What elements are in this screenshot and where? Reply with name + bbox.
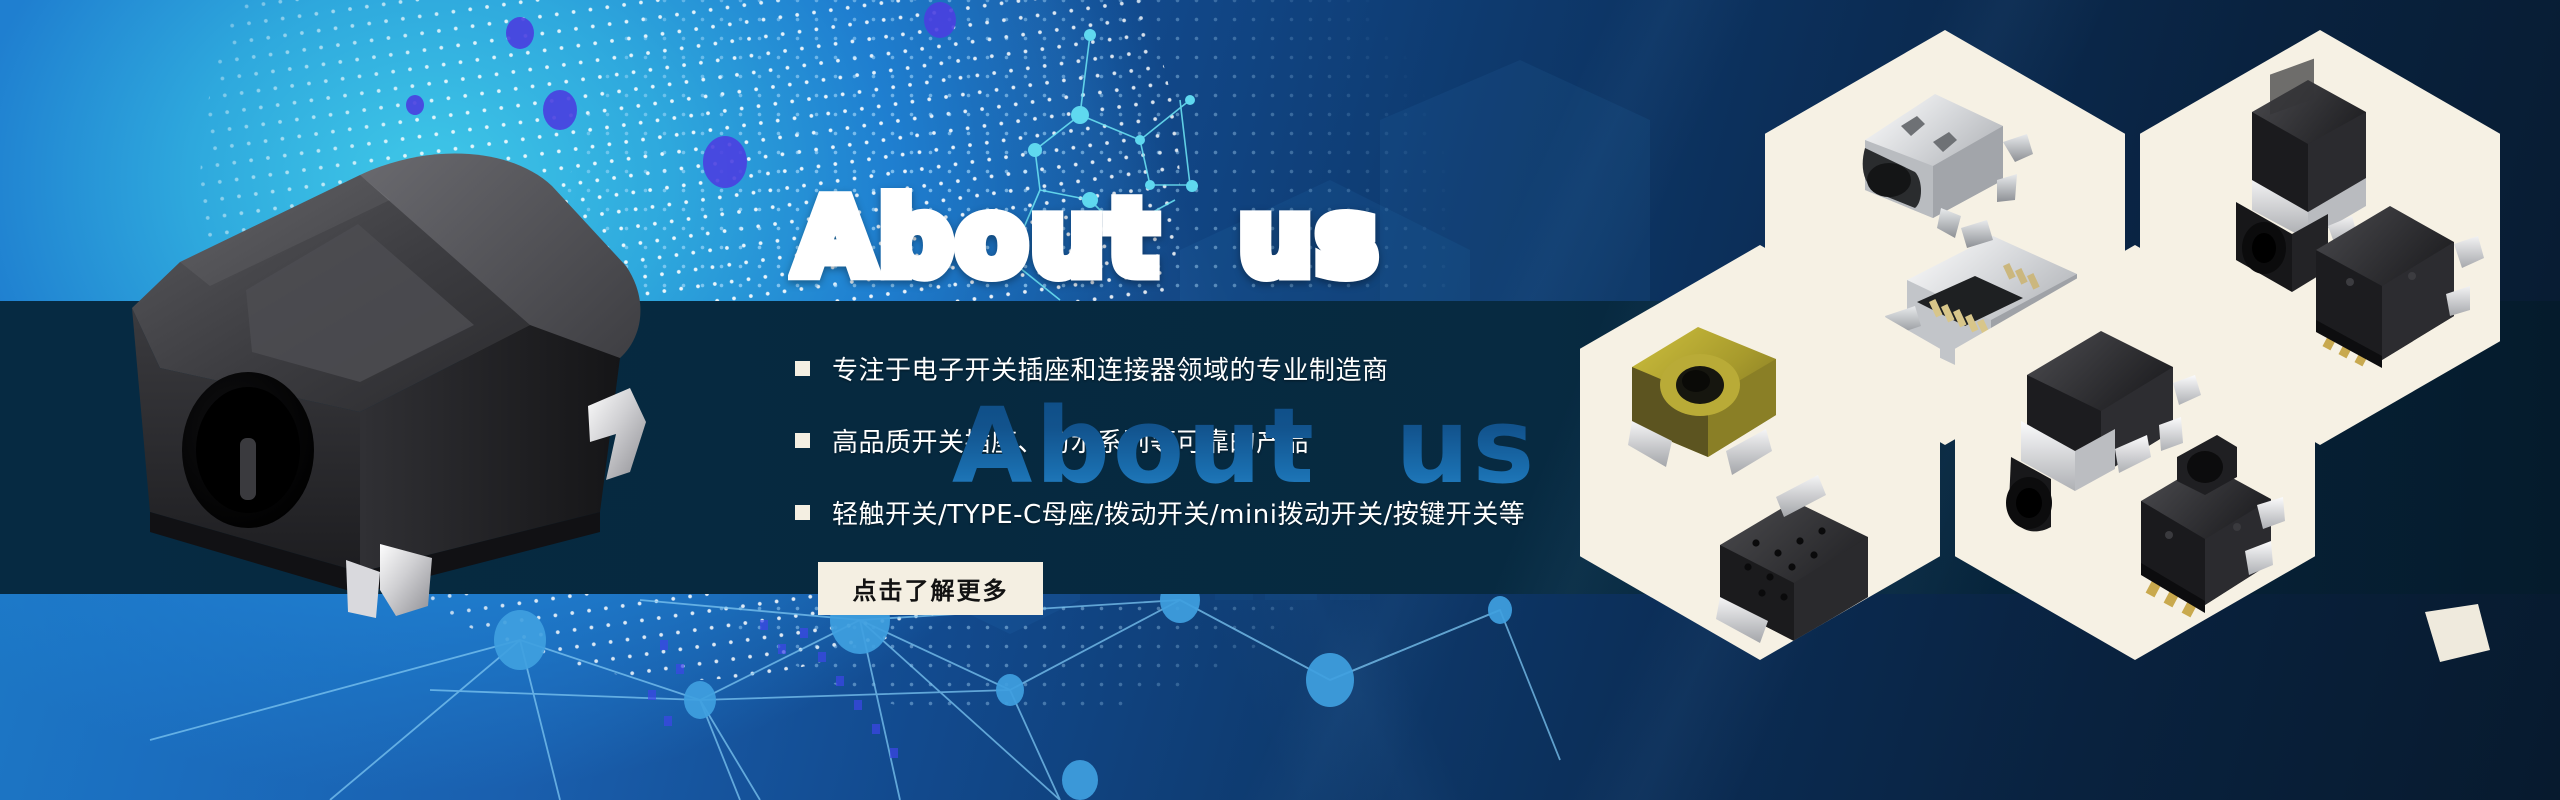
square-bullet-icon [795, 505, 810, 520]
page-title-fill: About us [952, 385, 1538, 507]
learn-more-button[interactable]: 点击了解更多 [818, 562, 1043, 615]
hero-product-image [60, 120, 680, 640]
product-gallery [1540, 0, 2560, 800]
about-us-banner: About us About us 专注于电子开关插座和连接器领域的专业制造商 … [0, 0, 2560, 800]
list-item-label: 专注于电子开关插座和连接器领域的专业制造商 [832, 350, 1389, 387]
page-title-outline: About us [795, 186, 1381, 290]
square-bullet-icon [795, 433, 810, 448]
square-bullet-icon [795, 361, 810, 376]
